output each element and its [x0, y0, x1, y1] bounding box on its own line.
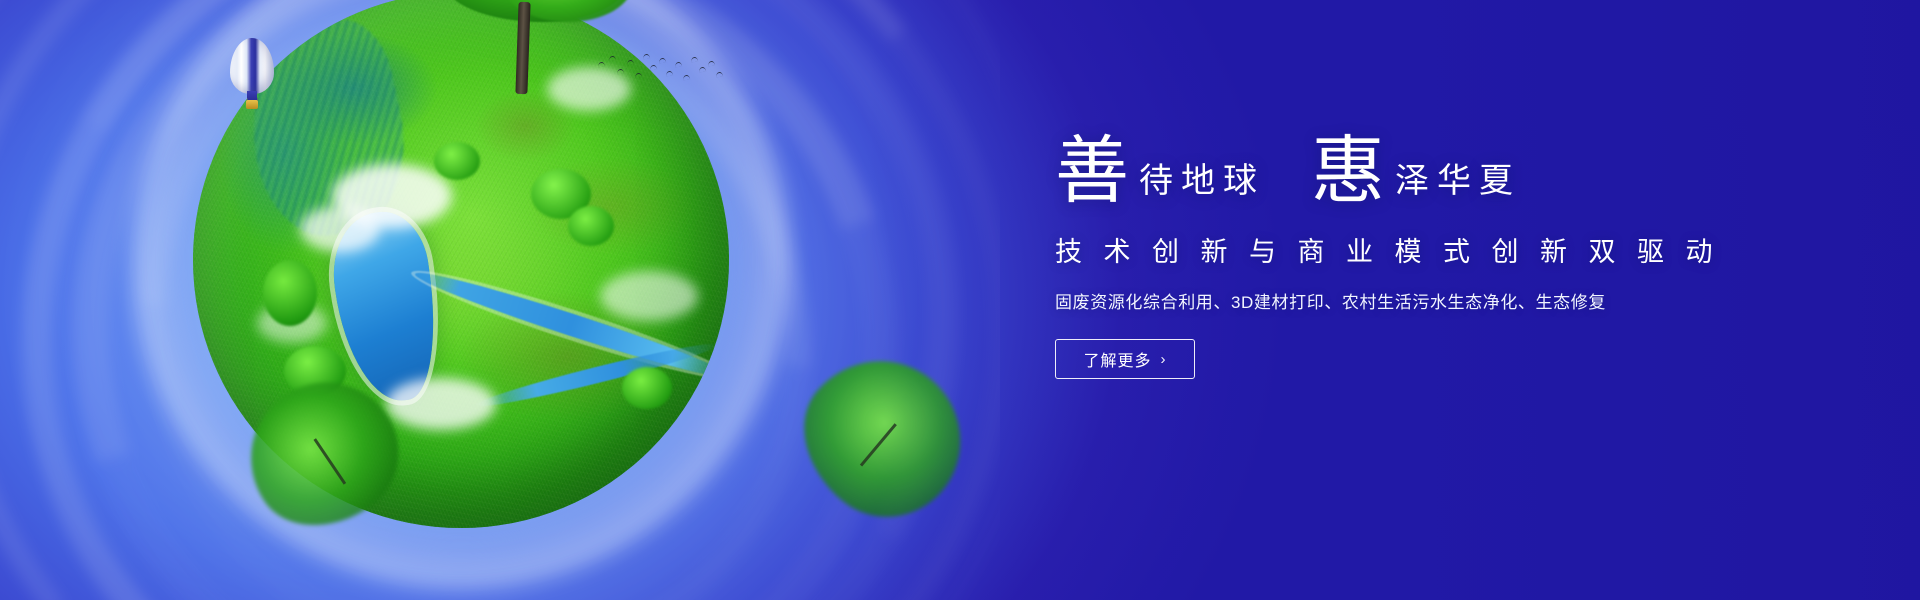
page-subtitle: 技 术 创 新 与 商 业 模 式 创 新 双 驱 动 [1055, 230, 1755, 269]
headline-rest-1: 待地球 [1139, 164, 1265, 198]
page-description: 固废资源化综合利用、3D建材打印、农村生活污水生态净化、生态修复 [1055, 288, 1755, 313]
headline-lead-char-2: 惠 [1311, 134, 1385, 208]
chevron-right-icon: › [1161, 352, 1167, 367]
hero-banner: 善 待地球 惠 泽华夏 技 术 创 新 与 商 业 模 式 创 新 双 驱 动 … [0, 0, 1920, 600]
page-title: 善 待地球 惠 泽华夏 [1055, 130, 1755, 204]
headline-rest-2: 泽华夏 [1395, 164, 1521, 198]
headline-lead-char-1: 善 [1055, 134, 1129, 208]
learn-more-button[interactable]: 了解更多 › [1055, 339, 1195, 379]
learn-more-label: 了解更多 [1083, 347, 1151, 371]
hero-content: 善 待地球 惠 泽华夏 技 术 创 新 与 商 业 模 式 创 新 双 驱 动 … [1055, 130, 1755, 379]
